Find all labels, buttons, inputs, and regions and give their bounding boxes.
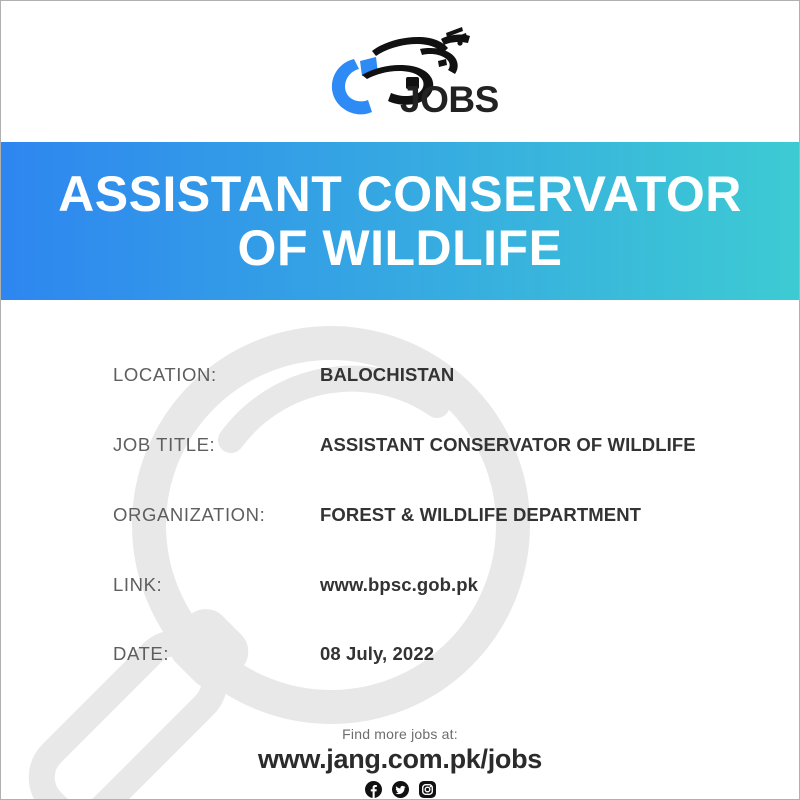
detail-value-link[interactable]: www.bpsc.gob.pk (320, 574, 478, 596)
page-title: ASSISTANT CONSERVATOR OF WILDLIFE (1, 167, 799, 275)
instagram-icon[interactable] (419, 781, 436, 798)
footer-site-url[interactable]: www.jang.com.pk/jobs (1, 744, 799, 775)
detail-row-job-title: JOB TITLE: ASSISTANT CONSERVATOR OF WILD… (1, 430, 799, 460)
detail-label: ORGANIZATION: (113, 504, 265, 526)
detail-row-date: DATE: 08 July, 2022 (1, 639, 799, 669)
detail-row-link: LINK: www.bpsc.gob.pk (1, 570, 799, 600)
job-post-card: JOBS ASSISTANT CONSERVATOR OF WILDLIFE L… (0, 0, 800, 800)
detail-label: LOCATION: (113, 364, 217, 386)
footer-lead-text: Find more jobs at: (1, 726, 799, 743)
detail-value: ASSISTANT CONSERVATOR OF WILDLIFE (320, 434, 696, 456)
detail-row-organization: ORGANIZATION: FOREST & WILDLIFE DEPARTME… (1, 500, 799, 530)
logo-jobs-label: JOBS (400, 81, 499, 118)
footer: Find more jobs at: www.jang.com.pk/jobs (1, 726, 799, 798)
twitter-icon[interactable] (392, 781, 409, 798)
detail-row-location: LOCATION: BALOCHISTAN (1, 360, 799, 390)
detail-value: FOREST & WILDLIFE DEPARTMENT (320, 504, 641, 526)
jang-jobs-logo[interactable]: JOBS (320, 21, 480, 123)
detail-value: BALOCHISTAN (320, 364, 454, 386)
job-title-banner: ASSISTANT CONSERVATOR OF WILDLIFE (1, 142, 799, 300)
logo-header: JOBS (1, 1, 799, 142)
facebook-icon[interactable] (365, 781, 382, 798)
detail-label: LINK: (113, 574, 162, 596)
detail-value: 08 July, 2022 (320, 643, 434, 665)
detail-label: JOB TITLE: (113, 434, 215, 456)
social-links (1, 781, 799, 798)
detail-label: DATE: (113, 643, 169, 665)
